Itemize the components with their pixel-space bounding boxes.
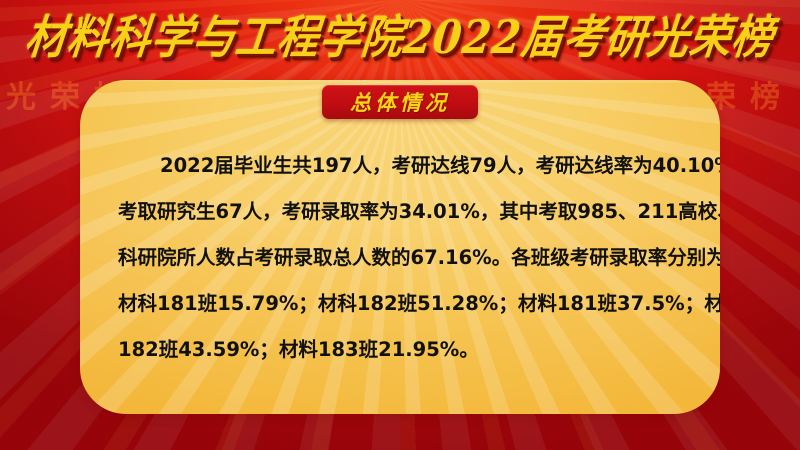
content-panel: 2022届毕业生共197人，考研达线79人，考研达线率为40.10%， 考取研究…	[80, 80, 720, 414]
summary-text-block: 2022届毕业生共197人，考研达线79人，考研达线率为40.10%， 考取研究…	[118, 143, 690, 373]
page-title: 材料科学与工程学院2022届考研光荣榜	[22, 0, 777, 67]
poster-root: 光荣榜 光荣榜 材料科学与工程学院2022届考研光荣榜 2022届毕业生共197…	[0, 0, 800, 450]
summary-line: 科研院所人数占考研录取总人数的67.16%。各班级考研录取率分别为：	[118, 235, 690, 281]
summary-line: 考取研究生67人，考研录取率为34.01%，其中考取985、211高校、	[118, 189, 690, 235]
section-badge: 总体情况	[322, 85, 478, 119]
section-badge-label: 总体情况	[350, 87, 450, 117]
poster-title-container: 材料科学与工程学院2022届考研光荣榜	[0, 2, 800, 64]
summary-line: 2022届毕业生共197人，考研达线79人，考研达线率为40.10%，	[118, 143, 690, 189]
summary-line: 材科181班15.79%；材科182班51.28%；材料181班37.5%；材料	[118, 281, 690, 327]
summary-line: 182班43.59%；材料183班21.95%。	[118, 327, 690, 373]
